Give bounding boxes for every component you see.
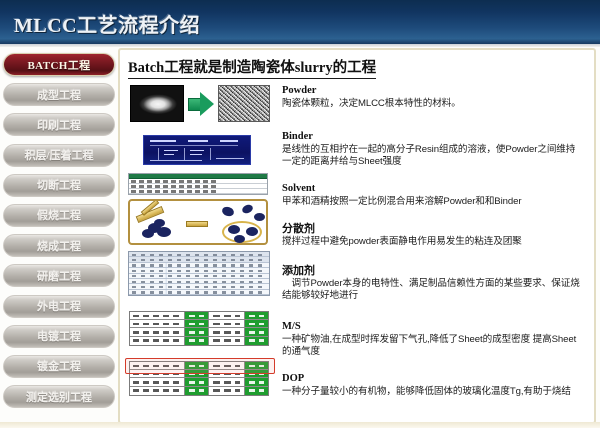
sidebar-item-label: 电镀工程 [37, 328, 81, 344]
table-cell [130, 320, 185, 327]
table-cell [209, 312, 245, 319]
dispersant-mechanism-illustration [128, 199, 268, 245]
sidebar-item-7[interactable]: 研磨工程 [3, 264, 115, 287]
sidebar-item-0[interactable]: BATCH工程 [3, 53, 115, 76]
sidebar-item-label: 研磨工程 [37, 268, 81, 284]
table-cell [245, 312, 268, 319]
sidebar-item-label: 印刷工程 [37, 117, 81, 133]
table-cell [185, 378, 208, 385]
material-title: 添加剂 [282, 265, 582, 277]
table-cell [245, 370, 268, 377]
material-block-0: Powder陶瓷体颗粒，决定MLCC根本特性的材料。 [282, 85, 582, 110]
sidebar-item-11[interactable]: 测定选别工程 [3, 385, 115, 408]
table-row [130, 370, 268, 378]
material-title: M/S [282, 321, 582, 333]
material-description: 调节Powder本身的电特性、满足制品信赖性方面的某些要求、保证烧结能够较好地进… [282, 278, 582, 302]
additive-data-table [128, 251, 270, 296]
binder-molecule-diagram [143, 135, 251, 165]
table-cell [245, 328, 268, 335]
sidebar-item-3[interactable]: 积层/压着工程 [3, 144, 115, 167]
material-title: 分散剂 [282, 223, 582, 235]
table-row [130, 320, 268, 328]
table-cell [185, 370, 208, 377]
header-divider [0, 44, 600, 47]
sidebar-item-label: 外电工程 [37, 298, 81, 314]
content-body: Powder陶瓷体颗粒，决定MLCC根本特性的材料。Binder是线性的互相拧在… [126, 83, 592, 421]
particle-blob [221, 205, 235, 217]
table-row [130, 337, 268, 345]
arrow-shape [188, 91, 214, 117]
table-cell [185, 337, 208, 345]
material-block-2: Solvent甲苯和酒精按照一定比例混合用来溶解Powder和和Binder [282, 183, 582, 208]
sidebar-item-label: 烧成工程 [37, 238, 81, 254]
material-block-4: 添加剂 调节Powder本身的电特性、满足制品信赖性方面的某些要求、保证烧结能够… [282, 265, 582, 302]
table-cell [245, 387, 268, 395]
table-cell [130, 312, 185, 319]
sidebar-item-4[interactable]: 切断工程 [3, 174, 115, 197]
solvent-spec-table [128, 173, 268, 195]
additive-table-grid [128, 251, 270, 296]
table-cell [209, 387, 245, 395]
sidebar-item-5[interactable]: 假烧工程 [3, 204, 115, 227]
material-description: 一种矿物油,在成型时挥发留下气孔,降低了Sheet的成型密度 提高Sheet的通… [282, 334, 582, 358]
sidebar-item-10[interactable]: 镀金工程 [3, 355, 115, 378]
table-cell [185, 320, 208, 327]
blue-diagram-image [143, 135, 251, 165]
table-cell [245, 362, 268, 369]
ms-table-grid [129, 311, 269, 346]
sidebar-item-8[interactable]: 外电工程 [3, 295, 115, 318]
dispersant-illustration-image [128, 199, 268, 245]
table-cell [185, 312, 208, 319]
sidebar-item-label: 积层/压着工程 [24, 147, 93, 163]
table-cell [245, 320, 268, 327]
table-cell [209, 320, 245, 327]
particle-blob [142, 229, 154, 238]
table-cell [185, 387, 208, 395]
table-row [129, 189, 267, 194]
particle-blob [246, 227, 258, 236]
powder-photo-image [130, 85, 184, 122]
table-row [130, 362, 268, 370]
sidebar-item-label: BATCH工程 [27, 57, 90, 73]
table-cell [130, 387, 185, 395]
table-cell [209, 328, 245, 335]
table-row [130, 387, 268, 395]
mineral-spirit-table [129, 311, 269, 346]
sidebar-item-9[interactable]: 电镀工程 [3, 325, 115, 348]
table-cell [130, 337, 185, 345]
table-cell [130, 370, 185, 377]
sem-micrograph [218, 85, 270, 122]
table-cell [209, 370, 245, 377]
particle-blob [254, 213, 265, 221]
dop-table-grid [129, 361, 269, 396]
particle-blob [228, 225, 240, 234]
material-description: 搅拌过程中避免powder表面静电作用易发生的粘连及团聚 [282, 236, 582, 248]
content-heading: Batch工程就是制造陶瓷体slurry的工程 [128, 56, 376, 79]
table-cell [185, 362, 208, 369]
sidebar-item-label: 镀金工程 [37, 358, 81, 374]
table-cell [130, 328, 185, 335]
particle-blob [241, 203, 254, 215]
slide-root: MLCC工艺流程介绍 BATCH工程成型工程印刷工程积层/压着工程切断工程假烧工… [0, 0, 600, 428]
sem-photo-image [218, 85, 270, 122]
figure-column [126, 83, 274, 421]
sidebar-item-label: 测定选别工程 [26, 389, 92, 405]
material-title: Powder [282, 85, 582, 97]
content-panel: Batch工程就是制造陶瓷体slurry的工程 [118, 48, 596, 424]
table-row [130, 312, 268, 320]
sidebar-item-1[interactable]: 成型工程 [3, 83, 115, 106]
footer-strip [0, 422, 600, 428]
table-cell [185, 328, 208, 335]
particle-blob [234, 235, 245, 243]
dop-table [129, 361, 269, 396]
material-description: 甲苯和酒精按照一定比例混合用来溶解Powder和和Binder [282, 196, 582, 208]
sidebar-item-2[interactable]: 印刷工程 [3, 113, 115, 136]
green-right-arrow-icon [188, 91, 214, 117]
sidebar-item-label: 假烧工程 [37, 207, 81, 223]
material-title: Binder [282, 131, 582, 143]
table-cell [245, 337, 268, 345]
table-row [130, 378, 268, 386]
material-description: 是线性的互相拧在一起的高分子Resin组成的溶液，使Powder之间维持一定的距… [282, 144, 582, 168]
table-row [130, 328, 268, 336]
table-cell [209, 337, 245, 345]
table-cell [209, 362, 245, 369]
gold-arrow-shape [186, 221, 208, 227]
material-block-3: 分散剂搅拌过程中避免powder表面静电作用易发生的粘连及团聚 [282, 223, 582, 248]
table-cell [209, 378, 245, 385]
particle-blob [157, 227, 171, 237]
sidebar-item-label: 成型工程 [37, 87, 81, 103]
material-title: DOP [282, 373, 582, 385]
text-column: Powder陶瓷体颗粒，决定MLCC根本特性的材料。Binder是线性的互相拧在… [274, 83, 592, 421]
material-description: 一种分子量较小的有机物，能够降低固体的玻璃化温度Tg,有助于烧结 [282, 386, 582, 398]
material-block-6: DOP一种分子量较小的有机物，能够降低固体的玻璃化温度Tg,有助于烧结 [282, 373, 582, 398]
powder-photograph [130, 85, 184, 122]
material-description: 陶瓷体颗粒，决定MLCC根本特性的材料。 [282, 98, 582, 110]
material-title: Solvent [282, 183, 582, 195]
table-cell [130, 362, 185, 369]
page-title: MLCC工艺流程介绍 [14, 9, 200, 38]
sidebar-item-6[interactable]: 烧成工程 [3, 234, 115, 257]
particle-blob [154, 219, 165, 227]
sidebar-item-label: 切断工程 [37, 177, 81, 193]
material-block-5: M/S一种矿物油,在成型时挥发留下气孔,降低了Sheet的成型密度 提高Shee… [282, 321, 582, 358]
content-inner: Batch工程就是制造陶瓷体slurry的工程 [120, 50, 594, 422]
table-cell [245, 378, 268, 385]
table-row [129, 290, 269, 295]
process-nav-sidebar: BATCH工程成型工程印刷工程积层/压着工程切断工程假烧工程烧成工程研磨工程外电… [3, 53, 115, 425]
material-block-1: Binder是线性的互相拧在一起的高分子Resin组成的溶液，使Powder之间… [282, 131, 582, 168]
table-cell [130, 378, 185, 385]
spec-table-grid [128, 173, 268, 195]
